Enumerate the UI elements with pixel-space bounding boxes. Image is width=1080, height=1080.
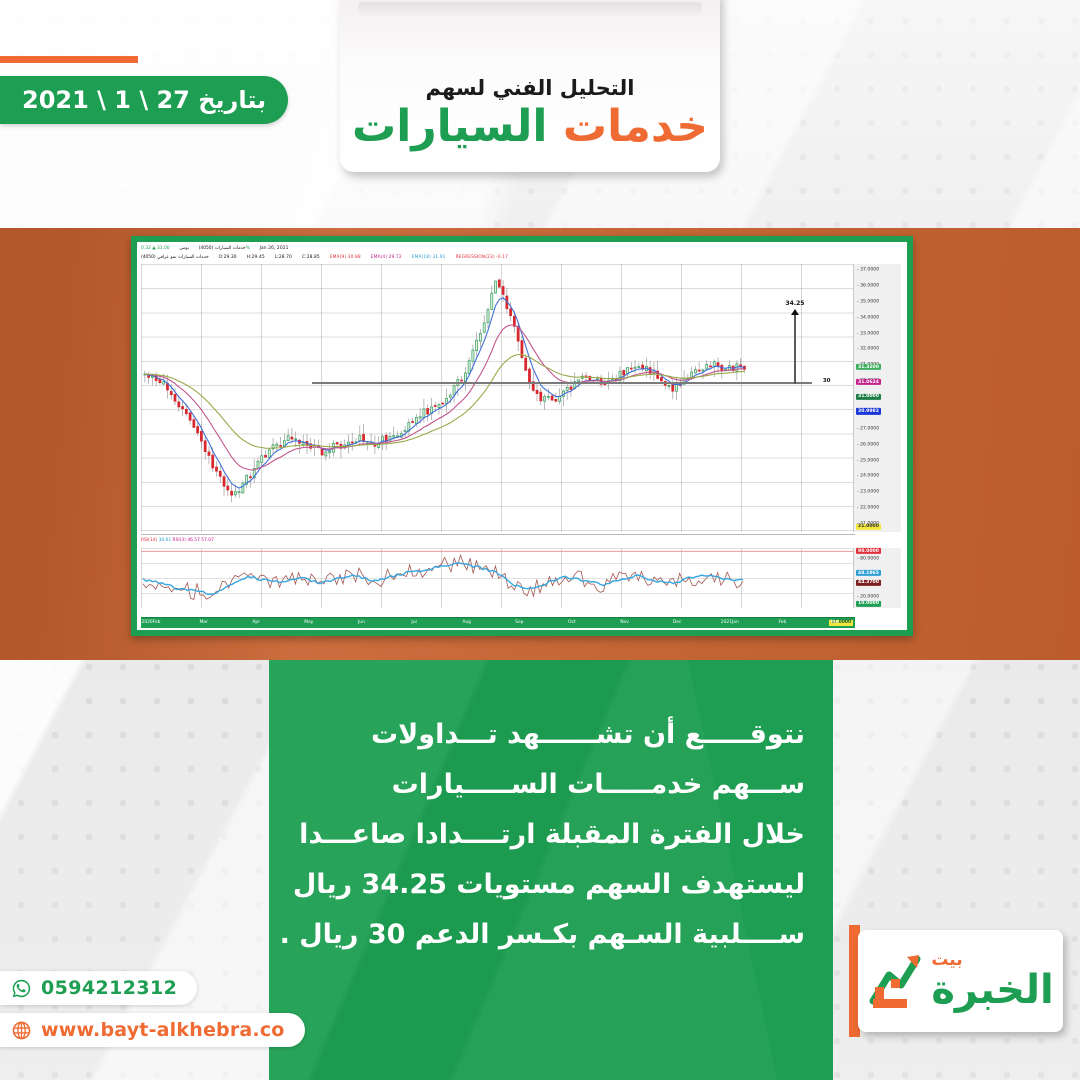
date-axis-tick: Dec [673, 620, 682, 625]
date-axis-tick: Sep [515, 620, 523, 625]
price-axis-tick: - 34.0000 [857, 315, 879, 320]
target-arrow-head-icon [791, 309, 799, 315]
date-axis-tick: Jun [358, 620, 365, 625]
date-axis: 31.0000 2020FebMarAprMayJunJulAugSepOctN… [141, 617, 855, 628]
rsi-axis-badge: 10.0000 [856, 601, 881, 607]
price-axis-badge: 31.0000 [856, 394, 881, 400]
support-level-label: 30 [823, 378, 831, 384]
rsi-axis-badge: 48.1965 [856, 570, 881, 576]
date-axis-tick: Apr [252, 620, 260, 625]
analysis-text-panel: نتوقـــــع أن تشــــــهد تـــداولاتســـه… [269, 660, 833, 1080]
price-axis-tick: - 25.0000 [857, 458, 879, 463]
title-main: خدمات السيارات [352, 104, 708, 150]
panel-divider [141, 534, 855, 535]
date-axis-tick: Oct [568, 620, 576, 625]
chart-last-price: 31.00 [157, 246, 170, 251]
analysis-text-line: ليستهدف السهم مستويات 34.25 ريال [293, 860, 805, 910]
title-card: التحليل الفني لسهم خدمات السيارات [340, 0, 720, 172]
chart-ema4-value: 29.72 [389, 255, 402, 260]
chart-ema9-value: 30.88 [348, 255, 361, 260]
orange-accent-bar-top [0, 56, 138, 63]
date-axis-tick: Aug [462, 620, 471, 625]
date-axis-tick: Mar [831, 620, 839, 625]
chart-open: O:29.30 [219, 255, 237, 260]
logo-wordmark: بيت الخبرة [931, 952, 1053, 1010]
rsi-extra-value: 57.07 [201, 538, 214, 543]
rsi-axis-tick: - 20.0000 [857, 595, 879, 600]
contact-phone-text: 0594212312 [41, 977, 177, 999]
chart-frame: خدمات السيارات (4050) يومي 31.00 ▲ 0.32%… [131, 236, 913, 636]
date-axis-tick: May [304, 620, 313, 625]
price-axis-tick: - 23.0000 [857, 490, 879, 495]
price-axis-tick: - 35.0000 [857, 299, 879, 304]
price-axis-tick: - 24.0000 [857, 474, 879, 479]
analysis-text-line: ســـهم خدمـــــات الســـــيارات [293, 760, 805, 810]
title-word-khadamat: خدمات [563, 101, 708, 152]
price-plot-area[interactable] [141, 264, 855, 532]
price-axis-tick: - 27.0000 [857, 426, 879, 431]
chart-ema18-label: EMA(18) [412, 255, 431, 260]
price-axis-tick: - 32.0000 [857, 347, 879, 352]
price-axis-badge: 21.0000 [856, 524, 881, 530]
support-level-line [312, 382, 812, 384]
analysis-text-line: خلال الفترة المقبلة ارتــــدادا صاعـــدا [293, 810, 805, 860]
chart-symbol-fullname: خدمات السيارات نمو عراقي [157, 255, 209, 260]
chart-ema18-value: 31.91 [433, 255, 446, 260]
date-axis-tick: Feb [778, 620, 786, 625]
title-word-sayarat: السيارات [352, 101, 548, 152]
target-arrow-stem [794, 315, 795, 384]
title-subtitle: التحليل الفني لسهم [426, 76, 635, 100]
contact-phone-pill[interactable]: 0594212312 [0, 971, 197, 1005]
price-axis-tick: - 36.0000 [857, 283, 879, 288]
price-axis-tick: - 26.0000 [857, 442, 879, 447]
rsi3-label: RSI(3) [173, 538, 186, 543]
chart-date: Jan 26, 2021 [260, 246, 289, 251]
price-axis-tick: - 33.0000 [857, 331, 879, 336]
target-price-label: 34.25 [786, 300, 805, 307]
chart-symbol-name: خدمات السيارات [215, 246, 246, 251]
rsi-axis-badge: 44.3700 [856, 580, 881, 586]
analysis-body-text: نتوقـــــع أن تشــــــهد تـــداولاتســـه… [293, 710, 805, 960]
analysis-text-line: نتوقـــــع أن تشــــــهد تـــداولات [293, 710, 805, 760]
rsi-plot-area[interactable] [141, 548, 855, 608]
rsi-axis: - 90.0000- 80.0000- 20.000090.000048.196… [853, 548, 901, 608]
analysis-text-line: ســــلبية السـهم بكـسر الدعم 30 ريال . [293, 910, 805, 960]
chart-up-triangle-icon: ▲ [152, 246, 155, 251]
rsi-info-line: RSI(14) 30.61 RSI(3) 46.57 57.07 [141, 538, 214, 543]
chart-symbol-code: (4050) [199, 246, 214, 251]
price-axis: - 37.0000- 36.0000- 35.0000- 34.0000- 33… [853, 264, 901, 532]
rsi14-value: 30.61 [159, 538, 172, 543]
rsi14-label: RSI(14) [141, 538, 157, 543]
chart-regression-value: -0.17 [496, 255, 508, 260]
price-candlestick-svg [141, 264, 855, 532]
chart-ema9-label: EMA(9) [330, 255, 346, 260]
price-axis-tick: - 22.0000 [857, 506, 879, 511]
chart-canvas[interactable]: خدمات السيارات (4050) يومي 31.00 ▲ 0.32%… [137, 242, 907, 630]
chart-close: C:28.85 [302, 255, 320, 260]
date-badge: بتاريخ 27 \ 1 \ 2021 [0, 76, 288, 124]
price-axis-tick: - 37.0000 [857, 268, 879, 273]
whatsapp-icon [11, 978, 32, 999]
date-axis-tick: Jul [411, 620, 416, 625]
chart-info-line-2: خدمات السيارات نمو عراقي (4050) O:29.30 … [141, 255, 508, 260]
rsi-indicator-svg [141, 548, 855, 608]
rsi-axis-tick: - 80.0000 [857, 556, 879, 561]
rsi-axis-badge: 90.0000 [856, 548, 881, 554]
price-axis-badge: 31.0624 [856, 379, 881, 385]
price-axis-badge: 30.9982 [856, 408, 881, 414]
date-axis-tick: 2020Feb [142, 620, 161, 625]
contact-website-text: www.bayt-alkhebra.co [41, 1019, 285, 1041]
chart-low: L:28.70 [275, 255, 292, 260]
company-logo-card[interactable]: بيت الخبرة [858, 930, 1063, 1032]
rsi3-value: 46.57 [187, 538, 200, 543]
chart-regression-label: REGRESSION(23) [456, 255, 495, 260]
date-axis-tick: Mar [199, 620, 207, 625]
chart-interval: يومي [179, 246, 189, 251]
date-axis-tick: Nov [620, 620, 629, 625]
chart-high: H:29.45 [247, 255, 265, 260]
contact-website-pill[interactable]: www.bayt-alkhebra.co [0, 1013, 305, 1047]
date-axis-tick: 2021Jan [721, 620, 739, 625]
globe-icon [11, 1020, 32, 1041]
logo-growth-arrow-icon [867, 949, 927, 1013]
chart-ema4-label: EMA(4) [371, 255, 387, 260]
price-axis-badge: 31.3200 [856, 364, 881, 370]
logo-word-khebra: الخبرة [931, 970, 1053, 1010]
chart-info-line-1: خدمات السيارات (4050) يومي 31.00 ▲ 0.32%… [141, 246, 289, 251]
chart-symbol-code-2: (4050) [141, 255, 156, 260]
